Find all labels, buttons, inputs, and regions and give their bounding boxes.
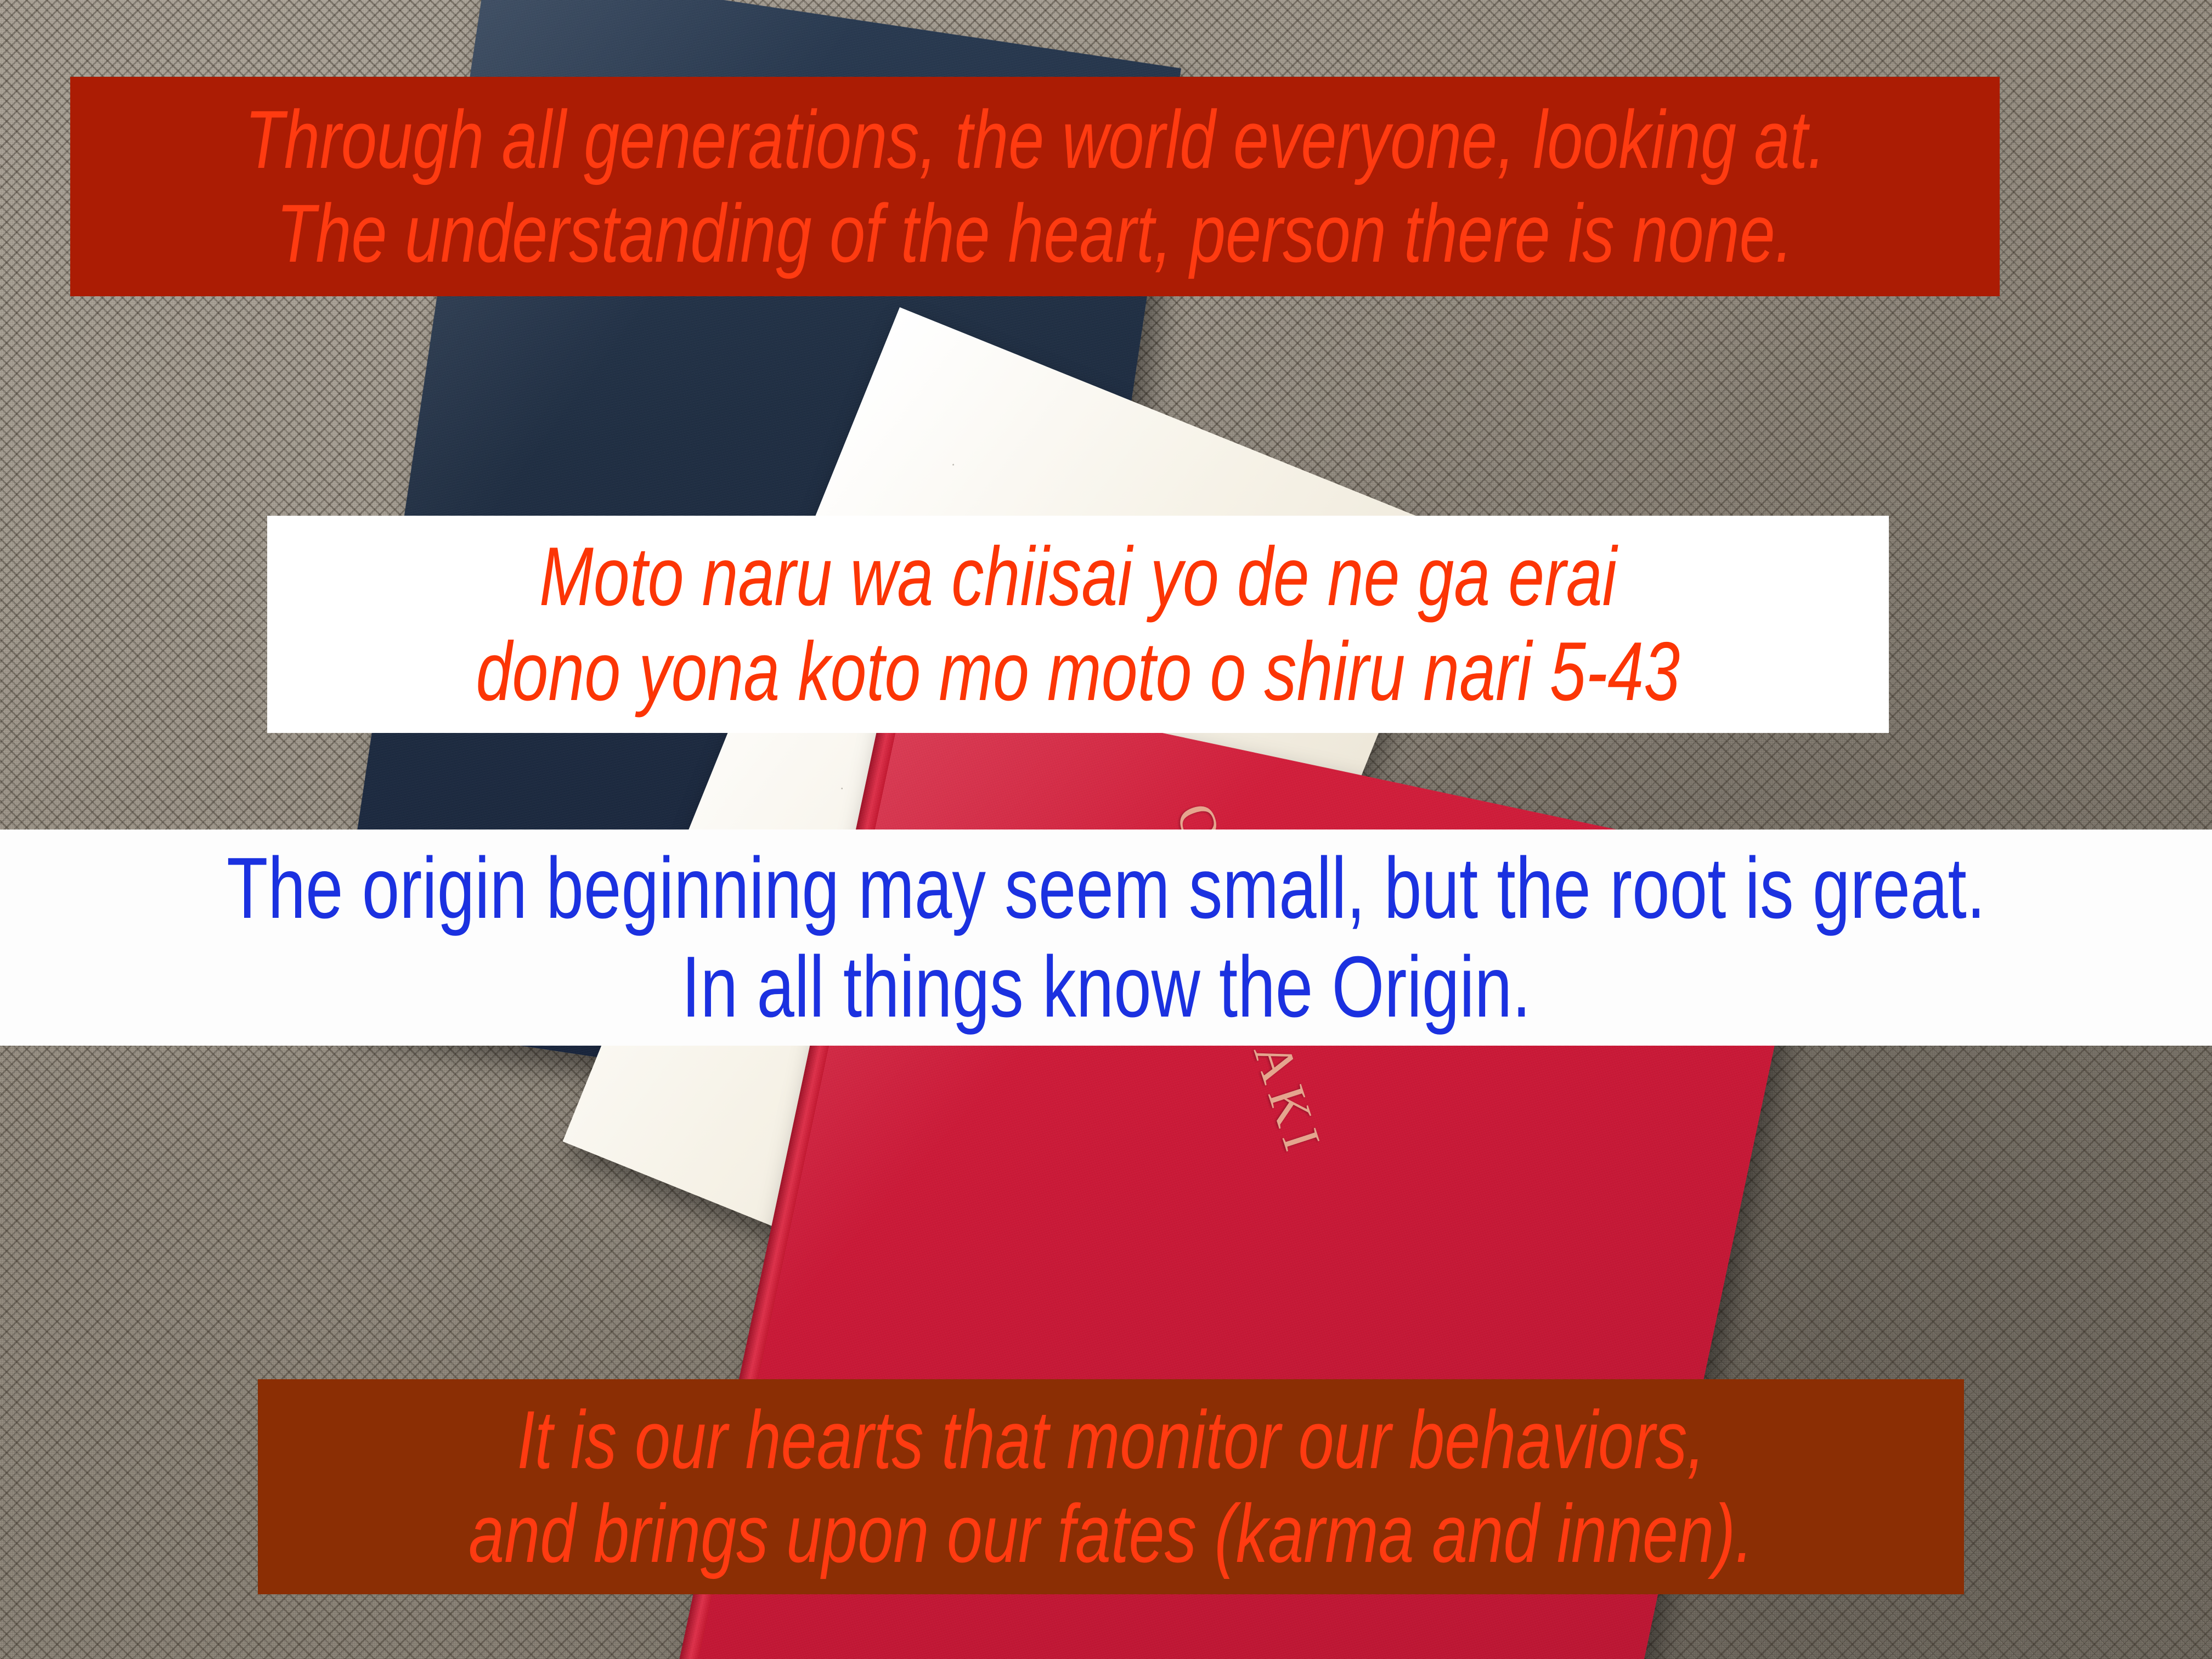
banner-literal-translation: Through all generations, the world every…: [70, 77, 2000, 296]
banner-commentary: It is our hearts that monitor our behavi…: [258, 1379, 1964, 1594]
banner-top-line-2: The understanding of the heart, person t…: [276, 187, 1793, 280]
banner-top-line-1: Through all generations, the world every…: [245, 93, 1825, 187]
banner-bottom-line-1: It is our hearts that monitor our behavi…: [517, 1393, 1705, 1487]
banner-blue-line-1: The origin beginning may seem small, but…: [227, 839, 1985, 938]
slide-canvas: OFUDESAKI English, Japanese, and Rom OFU…: [0, 0, 2212, 1659]
banner-roman-line-1: Moto naru wa chiisai yo de ne ga erai: [539, 529, 1617, 624]
banner-roman-line-2: dono yona koto mo moto o shiru nari 5-43: [476, 624, 1680, 719]
banner-romanized-verse: Moto naru wa chiisai yo de ne ga erai do…: [267, 516, 1889, 733]
banner-blue-line-2: In all things know the Origin.: [681, 938, 1531, 1036]
banner-bottom-line-2: and brings upon our fates (karma and inn…: [469, 1487, 1753, 1581]
banner-english-translation: The origin beginning may seem small, but…: [0, 830, 2212, 1046]
